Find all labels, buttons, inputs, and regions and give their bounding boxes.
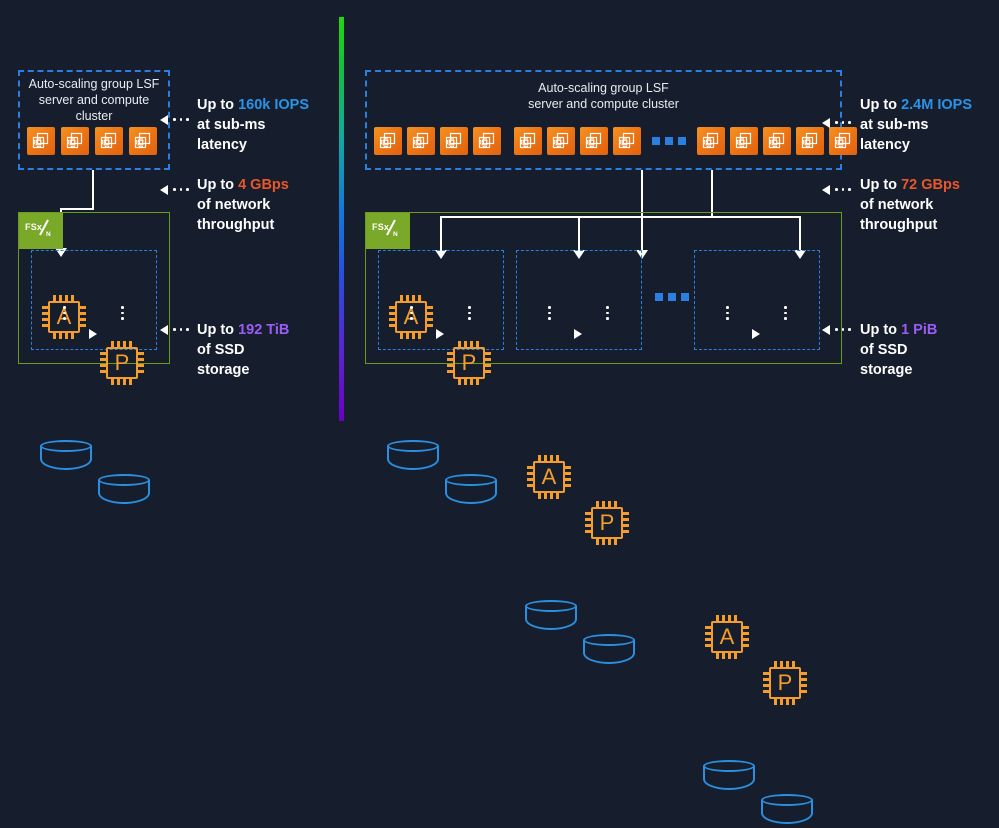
left-callout-storage-prefix: Up to — [197, 322, 238, 338]
storage-chip-a: A — [704, 614, 750, 660]
right-callout-iops-dots — [835, 121, 851, 124]
right-callout-iops: Up to 2.4M IOPS at sub-ms latency — [860, 95, 972, 155]
right-callout-network-dots — [835, 188, 851, 191]
right-panel: Auto-scaling group LSF server and comput… — [350, 0, 999, 438]
left-asg-title-line3: cluster — [20, 108, 168, 124]
ec2-instances-icon[interactable] — [547, 127, 575, 155]
left-panel: Auto-scaling group LSF server and comput… — [0, 0, 335, 438]
left-callout-storage: Up to 192 TiB of SSD storage — [197, 320, 289, 380]
left-callout-network-line3: throughput — [197, 215, 289, 235]
right-callout-storage-dots — [835, 328, 851, 331]
fsx-badge-label: FSx — [25, 222, 42, 232]
left-callout-iops: Up to 160k IOPS at sub-ms latency — [197, 95, 309, 155]
right-asg-title-line1: Auto-scaling group LSF — [365, 80, 842, 96]
left-callout-network-line2: of network — [197, 195, 289, 215]
storage-db-replica — [445, 474, 497, 508]
right-callout-iops-line3: latency — [860, 135, 972, 155]
storage-chip-p-label: P — [453, 347, 485, 379]
ec2-instances-icon[interactable] — [374, 127, 402, 155]
architecture-diagram: Auto-scaling group LSF server and comput… — [0, 0, 999, 438]
ec2-instances-icon[interactable] — [730, 127, 758, 155]
left-callout-network-dots — [173, 188, 189, 191]
left-callout-network-arrow — [160, 185, 168, 195]
left-asg-title-line2: server and compute — [20, 92, 168, 108]
left-callout-iops-arrow — [160, 115, 168, 125]
right-callout-storage-line2: of SSD — [860, 340, 937, 360]
storage-chip-p-label: P — [769, 667, 801, 699]
fsx-service-badge: FSx N — [366, 213, 410, 249]
left-callout-storage-arrow — [160, 325, 168, 335]
right-callout-storage-prefix: Up to — [860, 322, 901, 338]
db-replication-arrow — [574, 329, 582, 339]
chip-db-link — [726, 306, 729, 320]
storage-db-primary — [387, 440, 439, 474]
storage-chip-p: P — [446, 340, 492, 386]
left-connector-h1 — [60, 208, 94, 210]
storage-chip-a-label: A — [711, 621, 743, 653]
storage-db-replica — [761, 794, 813, 828]
ec2-instances-icon[interactable] — [580, 127, 608, 155]
right-callout-storage-arrow — [822, 325, 830, 335]
chip-db-link — [63, 306, 66, 320]
fsx-badge-sub: N — [46, 231, 51, 238]
ec2-instances-icon[interactable] — [61, 127, 89, 155]
ec2-instances-icon[interactable] — [95, 127, 123, 155]
ec2-instances-icon[interactable] — [473, 127, 501, 155]
left-callout-iops-line2: at sub-ms — [197, 115, 309, 135]
vertical-gradient-divider — [339, 17, 344, 421]
right-callout-iops-arrow — [822, 118, 830, 128]
ec2-instances-icon[interactable] — [697, 127, 725, 155]
db-replication-arrow — [752, 329, 760, 339]
storage-db-primary — [703, 760, 755, 794]
right-instance-row — [374, 127, 857, 155]
fsx-badge-sub: N — [393, 231, 398, 238]
left-callout-iops-value: 160k IOPS — [238, 97, 309, 113]
storage-chip-p-label: P — [591, 507, 623, 539]
right-callout-iops-prefix: Up to — [860, 97, 901, 113]
ec2-instances-icon[interactable] — [829, 127, 857, 155]
chip-db-link — [121, 306, 124, 320]
fsx-service-badge: FSx N — [19, 213, 63, 249]
ec2-instances-icon[interactable] — [796, 127, 824, 155]
right-callout-network-line3: throughput — [860, 215, 960, 235]
right-asg-title: Auto-scaling group LSF server and comput… — [365, 80, 842, 112]
ec2-instances-icon[interactable] — [27, 127, 55, 155]
left-callout-iops-prefix: Up to — [197, 97, 238, 113]
right-asg-title-line2: server and compute cluster — [365, 96, 842, 112]
left-callout-network: Up to 4 GBps of network throughput — [197, 175, 289, 235]
right-callout-storage: Up to 1 PiB of SSD storage — [860, 320, 937, 380]
right-callout-network-line2: of network — [860, 195, 960, 215]
right-callout-iops-value: 2.4M IOPS — [901, 97, 972, 113]
storage-db-replica — [98, 474, 150, 508]
left-callout-network-prefix: Up to — [197, 177, 238, 193]
right-callout-network-prefix: Up to — [860, 177, 901, 193]
storage-chip-p-label: P — [106, 347, 138, 379]
ec2-instances-icon[interactable] — [440, 127, 468, 155]
right-callout-network-value: 72 GBps — [901, 177, 960, 193]
right-connector-trunk — [711, 170, 713, 218]
right-callout-iops-line2: at sub-ms — [860, 115, 972, 135]
storage-chip-p: P — [762, 660, 808, 706]
left-callout-iops-dots — [173, 118, 189, 121]
left-callout-storage-dots — [173, 328, 189, 331]
left-callout-storage-line3: storage — [197, 360, 289, 380]
storage-db-primary — [525, 600, 577, 634]
right-callout-storage-value: 1 PiB — [901, 322, 937, 338]
left-callout-storage-value: 192 TiB — [238, 322, 289, 338]
storage-db-replica — [583, 634, 635, 668]
storage-chip-a-label: A — [533, 461, 565, 493]
storage-chip-a: A — [526, 454, 572, 500]
storage-chip-p: P — [584, 500, 630, 546]
ec2-instances-icon[interactable] — [514, 127, 542, 155]
left-callout-storage-line2: of SSD — [197, 340, 289, 360]
right-callout-network-arrow — [822, 185, 830, 195]
storage-chip-p: P — [99, 340, 145, 386]
left-callout-iops-line3: latency — [197, 135, 309, 155]
chip-db-link — [410, 306, 413, 320]
left-asg-title-line1: Auto-scaling group LSF — [20, 76, 168, 92]
db-replication-arrow — [89, 329, 97, 339]
ec2-instances-icon[interactable] — [129, 127, 157, 155]
ec2-instances-icon[interactable] — [407, 127, 435, 155]
ec2-instances-icon[interactable] — [763, 127, 791, 155]
fsx-badge-label: FSx — [372, 222, 389, 232]
left-instance-row — [27, 127, 157, 155]
db-replication-arrow — [436, 329, 444, 339]
instance-row-ellipsis — [652, 137, 686, 145]
left-connector-v1 — [92, 170, 94, 210]
ec2-instances-icon[interactable] — [613, 127, 641, 155]
right-callout-storage-line3: storage — [860, 360, 937, 380]
left-asg-title: Auto-scaling group LSF server and comput… — [20, 76, 168, 124]
storage-db-primary — [40, 440, 92, 474]
chip-db-link — [784, 306, 787, 320]
chip-db-link — [468, 306, 471, 320]
storage-cluster-ellipsis — [655, 293, 689, 301]
chip-db-link — [606, 306, 609, 320]
chip-db-link — [548, 306, 551, 320]
right-callout-network: Up to 72 GBps of network throughput — [860, 175, 960, 235]
left-callout-network-value: 4 GBps — [238, 177, 289, 193]
